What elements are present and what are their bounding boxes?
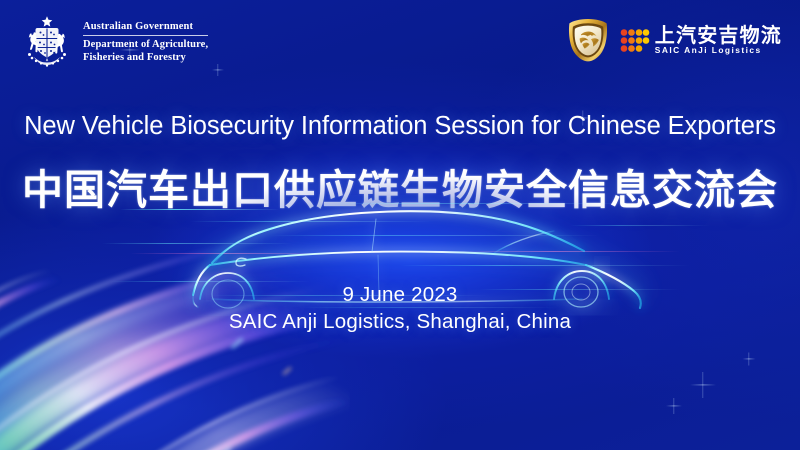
sparkle-icon	[742, 352, 755, 365]
glitch-streak	[270, 235, 600, 236]
au-gov-divider	[83, 35, 208, 36]
sparkle-icon	[690, 372, 716, 398]
slide-title-chinese: 中国汽车出口供应链生物安全信息交流会	[0, 156, 800, 216]
saic-shield-icon	[567, 17, 609, 63]
sparkle-icon	[212, 64, 224, 76]
au-gov-line2: Department of Agriculture,	[83, 39, 208, 52]
glitch-streak-pink	[130, 253, 340, 254]
australian-government-wordmark: Australian Government Department of Agri…	[83, 21, 208, 64]
sparkle-icon	[666, 398, 682, 414]
event-venue: SAIC Anji Logistics, Shanghai, China	[0, 310, 800, 334]
glitch-streak-pink	[450, 251, 680, 252]
glitch-streak	[400, 265, 690, 266]
au-gov-line1: Australian Government	[83, 21, 208, 32]
glitch-streak	[570, 225, 710, 226]
holographic-ribbons-icon	[0, 230, 350, 450]
bottom-curve-bright	[438, 249, 800, 450]
glitch-streak	[190, 221, 430, 222]
slide-footer: 9 June 2023 SAIC Anji Logistics, Shangha…	[0, 283, 800, 334]
glitch-streak	[110, 281, 310, 282]
saic-english-name: SAIC AnJi Logistics	[655, 46, 782, 54]
event-date: 9 June 2023	[0, 283, 800, 307]
presentation-slide: Australian Government Department of Agri…	[0, 0, 800, 450]
glitch-streak	[102, 243, 292, 244]
australian-coat-of-arms-icon	[20, 14, 74, 72]
australian-government-logo: Australian Government Department of Agri…	[20, 14, 208, 72]
saic-chinese-name: 上汽安吉物流	[655, 25, 782, 45]
saic-wordmark: 上汽安吉物流 SAIC AnJi Logistics	[655, 25, 782, 54]
saic-anji-logistics-logo: 上汽安吉物流 SAIC AnJi Logistics	[567, 17, 782, 63]
bottom-curve-thin	[357, 219, 800, 450]
au-gov-line3: Fisheries and Forestry	[83, 52, 208, 65]
slide-title-english: New Vehicle Biosecurity Information Sess…	[0, 112, 800, 141]
anji-dots-icon	[620, 28, 650, 53]
